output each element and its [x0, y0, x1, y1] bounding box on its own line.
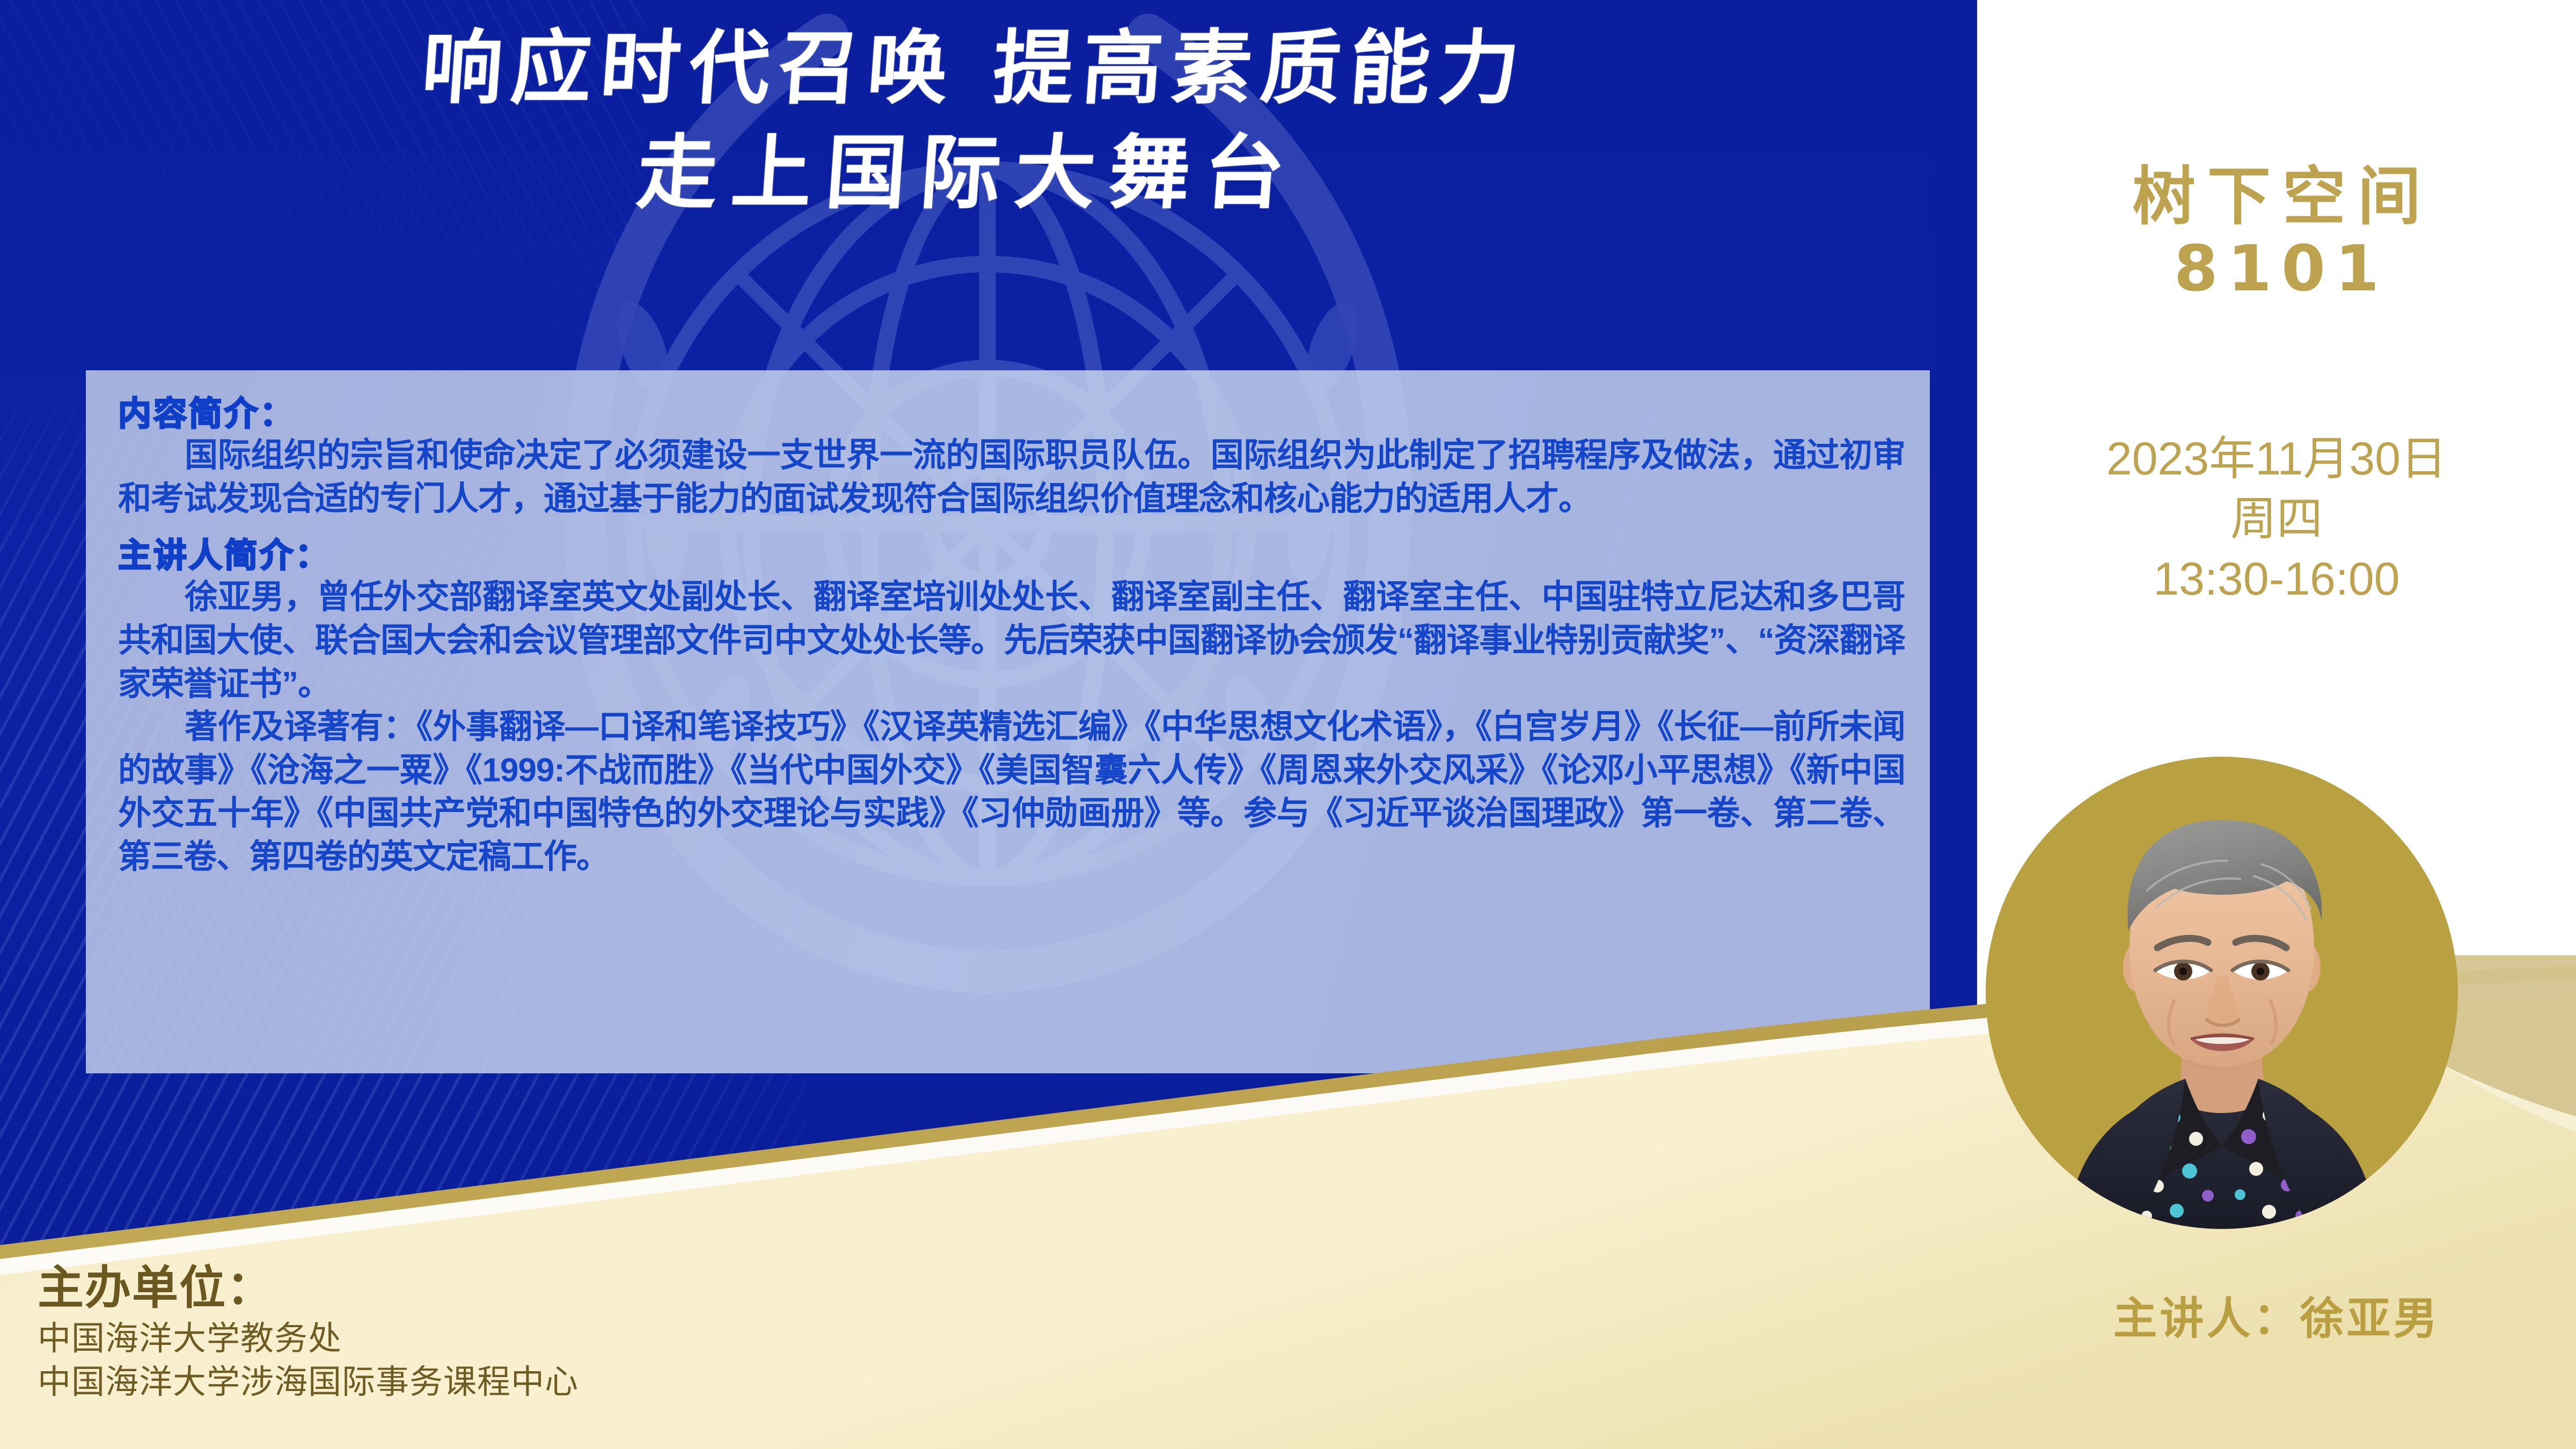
organizer-line-2: 中国海洋大学涉海国际事务课程中心 — [38, 1361, 1111, 1404]
speaker-body-career: 徐亚男，曾任外交部翻译室英文处副处长、翻译室培训处处长、翻译室副主任、翻译室主任… — [118, 576, 1905, 706]
title-line-1: 响应时代召唤 提高素质能力 — [0, 16, 1950, 121]
venue-room: 8101 — [1977, 232, 2576, 305]
organizer-line-1: 中国海洋大学教务处 — [38, 1318, 1111, 1361]
title-line-2: 走上国际大舞台 — [0, 121, 1943, 225]
speaker-portrait-illustration — [1986, 757, 2458, 1229]
poster-title: 响应时代召唤 提高素质能力 走上国际大舞台 — [0, 16, 1950, 225]
speaker-photo-disc — [1986, 757, 2458, 1229]
venue-name: 树下空间 — [1977, 161, 2576, 232]
poster-canvas: 响应时代召唤 提高素质能力 走上国际大舞台 内容简介： 国际组织的宗旨和使命决定… — [0, 0, 2576, 1449]
organizer-block: 主办单位： 中国海洋大学教务处 中国海洋大学涉海国际事务课程中心 — [38, 1261, 1111, 1404]
speaker-body-works: 著作及译著有：《外事翻译—口译和笔译技巧》《汉译英精选汇编》《中华思想文化术语》… — [118, 706, 1905, 879]
right-blue-strip — [1930, 0, 1978, 1449]
schedule-date: 2023年11月30日 — [1977, 429, 2576, 489]
schedule-weekday: 周四 — [1977, 489, 2576, 550]
speaker-heading: 主讲人简介： — [118, 538, 1905, 573]
intro-body: 国际组织的宗旨和使命决定了必须建设一支世界一流的国际职员队伍。国际组织为此制定了… — [118, 434, 1905, 521]
organizer-heading: 主办单位： — [38, 1261, 1111, 1315]
content-panel: 内容简介： 国际组织的宗旨和使命决定了必须建设一支世界一流的国际职员队伍。国际组… — [86, 370, 1937, 1073]
schedule-block: 2023年11月30日 周四 13:30-16:00 — [1977, 429, 2576, 609]
speaker-photo — [1986, 757, 2458, 1229]
section-gap — [118, 526, 1905, 538]
intro-heading: 内容简介： — [118, 396, 1905, 431]
venue-block: 树下空间 8101 — [1977, 161, 2576, 305]
schedule-time: 13:30-16:00 — [1977, 550, 2576, 610]
speaker-credit: 主讲人：徐亚男 — [1977, 1283, 2576, 1346]
